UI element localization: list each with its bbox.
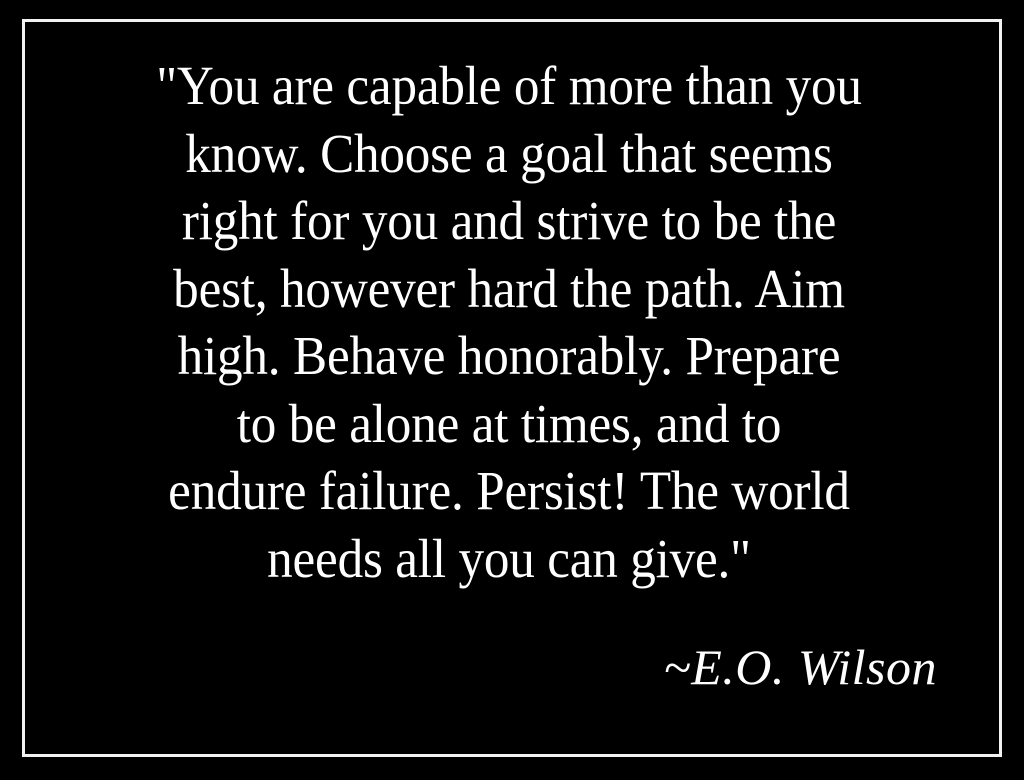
quote-card: "You are capable of more than you know. … [0, 0, 1024, 780]
quote-line: endure failure. Persist! The world [108, 457, 910, 525]
quote-attribution: ~E.O. Wilson [664, 638, 937, 696]
quote-line: best, however hard the path. Aim [108, 255, 910, 323]
quote-line: know. Choose a goal that seems [108, 120, 910, 188]
quote-line: needs all you can give." [108, 525, 910, 593]
quote-line: high. Behave honorably. Prepare [108, 322, 910, 390]
quote-line: right for you and strive to be the [108, 187, 910, 255]
attribution-block: ~E.O. Wilson [78, 638, 940, 696]
quote-line: to be alone at times, and to [108, 390, 910, 458]
quote-line: "You are capable of more than you [108, 52, 910, 120]
card-content: "You are capable of more than you know. … [78, 52, 940, 712]
quote-text-block: "You are capable of more than you know. … [78, 52, 940, 592]
